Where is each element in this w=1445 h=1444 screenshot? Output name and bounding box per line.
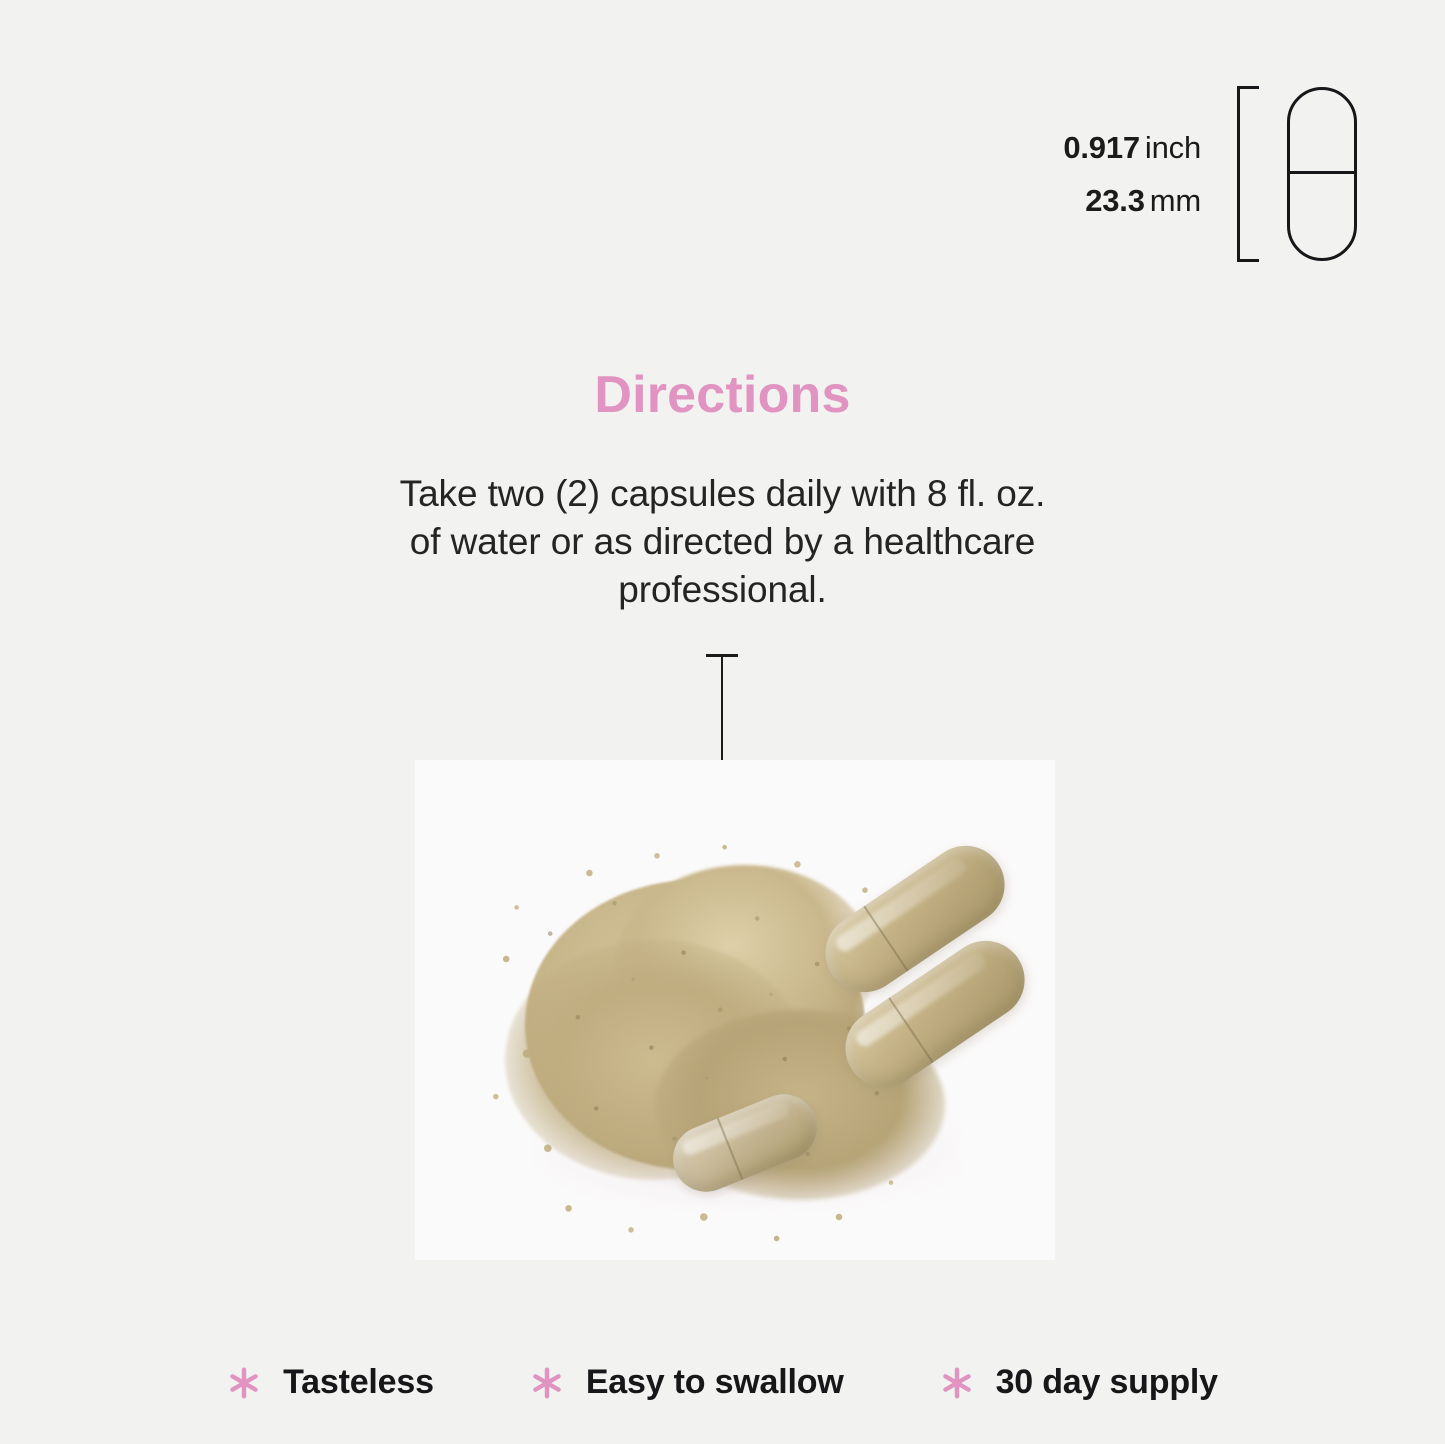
size-value-mm: 23.3: [1085, 183, 1145, 218]
asterisk-icon: [530, 1366, 564, 1400]
size-unit-mm: mm: [1150, 183, 1201, 218]
product-info-panel: 0.917inch 23.3mm Directions Take two (2)…: [0, 0, 1445, 1444]
directions-line-3: professional.: [343, 566, 1103, 614]
feature-item-tasteless: Tasteless: [227, 1363, 434, 1402]
directions-line-2: of water or as directed by a healthcare: [343, 518, 1103, 566]
size-measurement-labels: 0.917inch 23.3mm: [1063, 132, 1201, 216]
page-title: Directions: [0, 365, 1445, 425]
feature-label: 30 day supply: [996, 1363, 1218, 1402]
directions-line-1: Take two (2) capsules daily with 8 fl. o…: [343, 470, 1103, 518]
size-value-inch: 0.917: [1063, 130, 1140, 165]
capsule-seam-line: [1287, 171, 1357, 174]
measurement-bracket-icon: [1237, 86, 1259, 262]
asterisk-icon: [227, 1366, 261, 1400]
feature-label: Tasteless: [283, 1363, 434, 1402]
size-measurement-mm: 23.3mm: [1085, 185, 1201, 216]
asterisk-icon: [940, 1366, 974, 1400]
feature-item-easy-to-swallow: Easy to swallow: [530, 1363, 844, 1402]
powder-and-capsules-photo: [415, 760, 1055, 1260]
capsule-outline-icon: [1287, 87, 1357, 261]
feature-item-30-day-supply: 30 day supply: [940, 1363, 1218, 1402]
feature-list: Tasteless Easy to swallow: [0, 1363, 1445, 1402]
directions-text: Take two (2) capsules daily with 8 fl. o…: [343, 470, 1103, 614]
feature-label: Easy to swallow: [586, 1363, 844, 1402]
size-unit-inch: inch: [1145, 130, 1201, 165]
size-measurement-inch: 0.917inch: [1063, 132, 1201, 163]
capsule-size-indicator: 0.917inch 23.3mm: [1063, 86, 1357, 262]
